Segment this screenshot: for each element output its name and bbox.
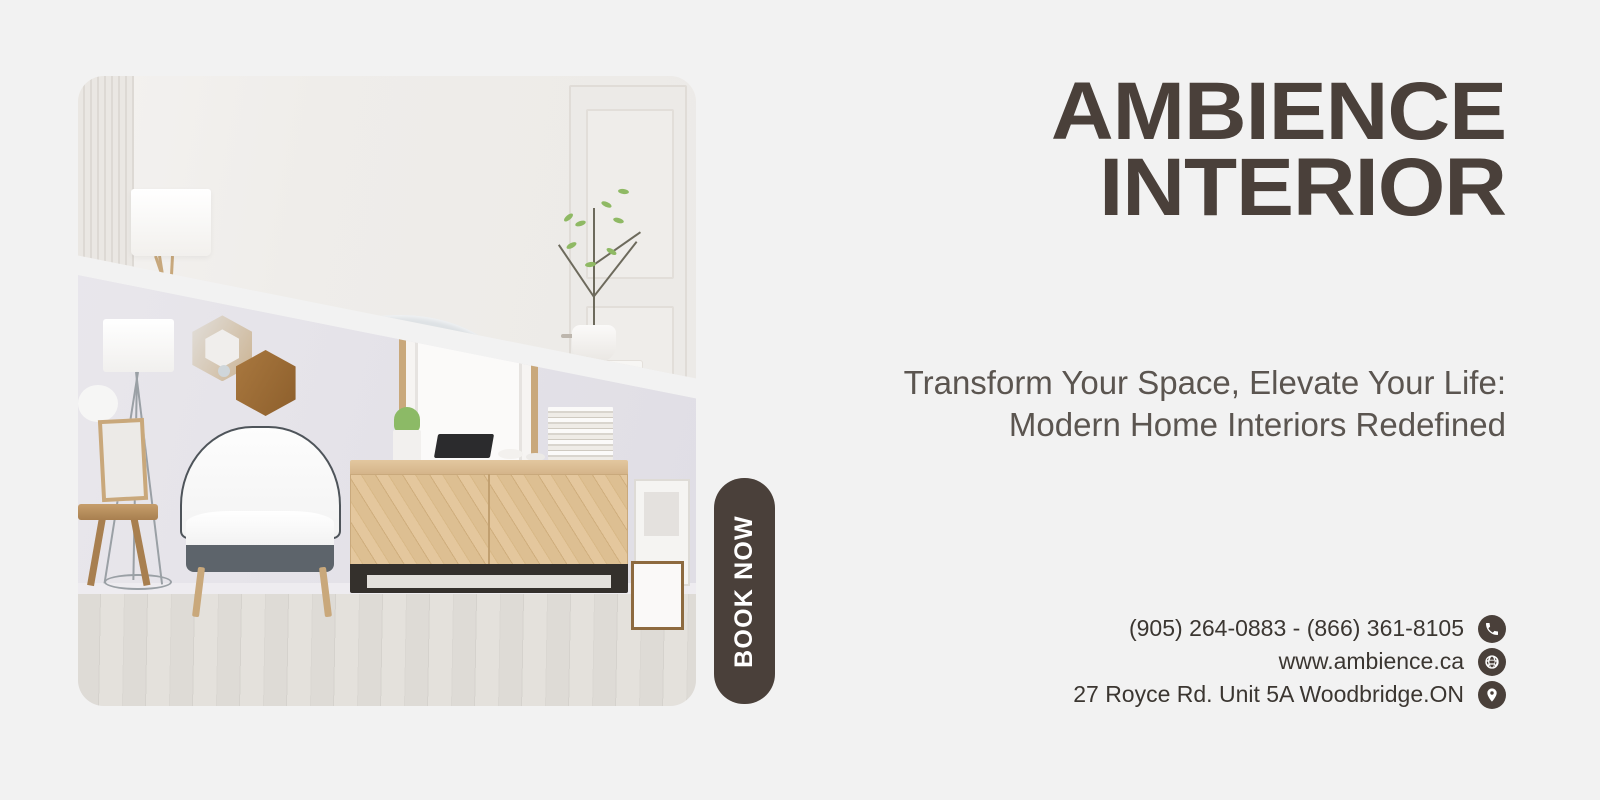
content-column: AMBIENCE INTERIOR Transform Your Space, …	[790, 0, 1506, 800]
location-pin-icon	[1478, 681, 1506, 709]
sideboard-plinth	[350, 564, 628, 592]
website-url-text: www.ambience.ca	[1279, 649, 1464, 674]
small-picture-frame	[98, 418, 149, 502]
floor-lamp-shade	[131, 189, 211, 255]
planter	[393, 430, 421, 462]
laptop	[434, 434, 494, 458]
shelf-unit-box	[631, 561, 684, 630]
globe-icon	[1478, 648, 1506, 676]
shelf-unit-compartment	[644, 492, 679, 536]
contact-row-phone[interactable]: (905) 264-0883 - (866) 361-8105	[1129, 615, 1506, 643]
shelf-decor-object	[218, 365, 230, 377]
address-text: 27 Royce Rd. Unit 5A Woodbridge.ON	[1073, 682, 1464, 707]
floor-lamp-shade	[103, 319, 174, 373]
brand-title-line-1: AMBIENCE	[747, 74, 1506, 150]
plant-pot	[572, 325, 615, 363]
plant-branch	[593, 208, 595, 328]
contact-row-website[interactable]: www.ambience.ca	[1279, 648, 1506, 676]
floor-lamp-base-ring	[104, 574, 172, 590]
decor-dish	[498, 449, 523, 459]
side-table-top	[78, 504, 158, 519]
phone-number-text: (905) 264-0883 - (866) 361-8105	[1129, 616, 1464, 641]
brand-title-line-2: INTERIOR	[747, 150, 1506, 226]
stacked-books	[548, 407, 613, 461]
phone-icon	[1478, 615, 1506, 643]
wood-floor	[78, 593, 696, 706]
small-potted-plant	[394, 407, 420, 432]
sideboard-door-divider	[488, 474, 490, 565]
book-now-button[interactable]: BOOK NOW	[714, 478, 775, 704]
tagline: Transform Your Space, Elevate Your Life:…	[790, 362, 1506, 446]
book-now-label: BOOK NOW	[730, 515, 759, 668]
armchair-base	[186, 545, 334, 571]
brand-title: AMBIENCE INTERIOR	[747, 74, 1506, 227]
contact-row-address[interactable]: 27 Royce Rd. Unit 5A Woodbridge.ON	[1073, 681, 1506, 709]
contact-block: (905) 264-0883 - (866) 361-8105 www.ambi…	[790, 615, 1506, 709]
image-collage	[78, 76, 696, 706]
